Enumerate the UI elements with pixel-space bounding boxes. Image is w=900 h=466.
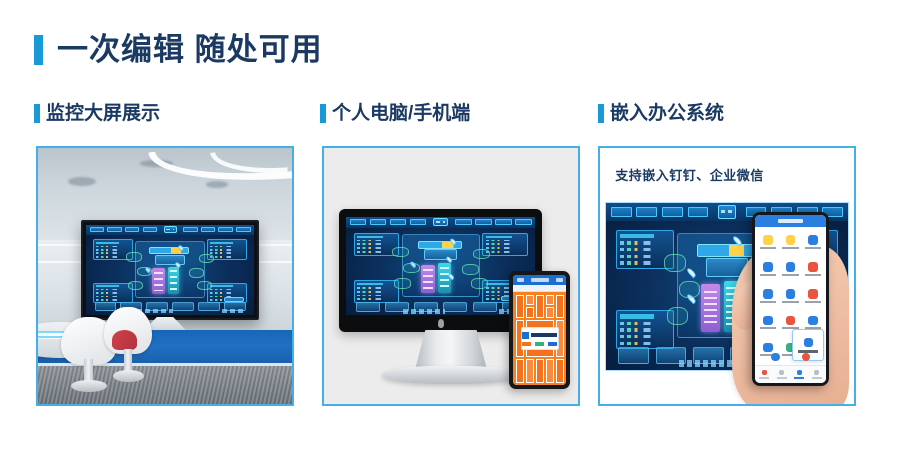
- grid-room: [536, 359, 544, 383]
- chair-base: [71, 380, 107, 392]
- dashboard-tab[interactable]: [515, 219, 531, 225]
- shortcut-icon: [771, 353, 780, 362]
- app-tile[interactable]: [802, 257, 823, 281]
- node-cluster: [199, 254, 214, 264]
- dashboard-tab[interactable]: [410, 219, 426, 225]
- dashboard-tab[interactable]: [495, 219, 511, 225]
- page-title: 一次编辑 随处可用: [34, 34, 323, 65]
- app-title: [778, 219, 803, 223]
- dashboard-footer-text: [222, 309, 245, 313]
- app-icon: [786, 262, 796, 272]
- ceiling-light: [68, 177, 96, 186]
- app-icon: [786, 289, 796, 299]
- app-label: [805, 301, 821, 303]
- app-icon: [763, 343, 773, 353]
- app-tile[interactable]: [780, 230, 801, 254]
- node-cluster: [189, 268, 204, 278]
- app-label: [760, 247, 776, 249]
- grid-room: [516, 359, 524, 383]
- app-icon: [763, 262, 773, 272]
- panel-monitor-wall: [36, 146, 294, 406]
- app-label: [760, 301, 776, 303]
- nav-item-workbench[interactable]: [791, 370, 809, 379]
- dashboard-footer-text: [679, 360, 732, 367]
- dashboard-title-banner: [164, 226, 177, 233]
- app-title: [531, 278, 550, 282]
- section-heading-office-embed: 嵌入办公系统: [598, 104, 724, 123]
- apple-logo-icon: [438, 319, 445, 328]
- back-icon[interactable]: [517, 278, 524, 282]
- brand-logo: [522, 332, 557, 339]
- dashboard-view: [346, 217, 535, 315]
- app-tile[interactable]: [758, 257, 779, 281]
- section-heading-pc-mobile: 个人电脑/手机端: [320, 104, 470, 123]
- panel-pc-mobile: [322, 146, 580, 406]
- dashboard-header: [346, 217, 535, 228]
- grid-room: [546, 359, 554, 383]
- status-legend: [522, 342, 557, 346]
- title-accent-bar: [34, 35, 43, 65]
- app-tile[interactable]: [758, 310, 779, 334]
- mobile-map-app: [513, 275, 566, 385]
- panel-caption: 支持嵌入钉钉、企业微信: [600, 148, 854, 202]
- app-icon: [763, 235, 773, 245]
- workbench-app: [755, 215, 825, 383]
- dashboard-body: [346, 228, 535, 315]
- app-icon: [763, 289, 773, 299]
- section-heading-label: 监控大屏展示: [46, 104, 160, 123]
- popup-icon: [804, 338, 813, 347]
- app-tile[interactable]: [758, 284, 779, 308]
- chair: [104, 307, 152, 384]
- wall-display-screen: [86, 225, 254, 315]
- dashboard-tab[interactable]: [143, 227, 157, 233]
- dashboard-tab[interactable]: [611, 207, 632, 218]
- node-cluster: [126, 252, 141, 262]
- app-label: [782, 301, 798, 303]
- section-accent-bar: [320, 104, 326, 123]
- dashboard-tab[interactable]: [390, 219, 406, 225]
- dashboard-action-button[interactable]: [224, 297, 244, 302]
- showroom-scene: [38, 148, 292, 404]
- section-heading-label: 个人电脑/手机端: [332, 104, 470, 123]
- app-header: [755, 215, 825, 227]
- menu-icon[interactable]: [556, 278, 563, 282]
- monitor-screen: [346, 217, 535, 315]
- panel-office-embed: 支持嵌入钉钉、企业微信: [598, 146, 856, 406]
- monitor-base: [382, 366, 519, 384]
- dashboard-tab[interactable]: [350, 219, 366, 225]
- app-icon: [763, 316, 773, 326]
- section-heading-monitor-wall: 监控大屏展示: [34, 104, 160, 123]
- map-info-card: [521, 327, 559, 349]
- chair-stem: [84, 359, 93, 382]
- floorplan-grid[interactable]: [513, 292, 566, 384]
- dashboard-tab[interactable]: [201, 227, 215, 233]
- dashboard-tab[interactable]: [475, 219, 491, 225]
- section-heading-label: 嵌入办公系统: [610, 104, 724, 123]
- app-label: [760, 274, 776, 276]
- equipment-bar: [697, 244, 754, 257]
- equipment-block: [155, 255, 185, 265]
- dashboard-title-banner: [718, 205, 737, 219]
- node-cluster: [667, 307, 689, 325]
- mobile-phone-device[interactable]: [752, 212, 828, 386]
- dashboard-tab[interactable]: [107, 227, 121, 233]
- slide-root: 一次编辑 随处可用 监控大屏展示 个人电脑/手机端 嵌入办公系统: [0, 0, 900, 466]
- dashboard-tab[interactable]: [236, 227, 250, 233]
- node-cluster: [664, 254, 686, 272]
- equipment-block: [424, 249, 457, 260]
- app-icon: [808, 289, 818, 299]
- dashboard-tab[interactable]: [90, 227, 104, 233]
- app-icon: [808, 316, 818, 326]
- nav-item-profile[interactable]: [808, 370, 826, 379]
- grid-room: [516, 295, 524, 319]
- chair-base: [113, 370, 144, 382]
- node-cluster: [128, 281, 143, 291]
- grid-room: [556, 295, 564, 319]
- app-icon: [786, 235, 796, 245]
- grid-room: [526, 359, 534, 383]
- grid-room: [526, 307, 534, 318]
- app-icon: [808, 235, 818, 245]
- grid-room: [546, 307, 554, 318]
- section-accent-bar: [34, 104, 40, 123]
- dashboard-view: [86, 225, 254, 315]
- grid-room: [546, 295, 554, 306]
- dashboard-tab[interactable]: [125, 227, 139, 233]
- app-tile[interactable]: [780, 257, 801, 281]
- dashboard-header: [86, 225, 254, 235]
- node-cluster: [392, 247, 409, 257]
- nav-item-docs[interactable]: [773, 370, 791, 379]
- node-cluster: [471, 278, 488, 288]
- phone-screen: [755, 215, 825, 383]
- node-cluster: [137, 267, 152, 277]
- equipment-rack-teal: [168, 267, 179, 295]
- node-cluster: [679, 281, 701, 299]
- equipment-rack-pink: [701, 284, 719, 332]
- nav-item-messages[interactable]: [755, 370, 773, 379]
- app-tile[interactable]: [802, 284, 823, 308]
- chair-cushion: [112, 330, 137, 350]
- app-label: [805, 274, 821, 276]
- dashboard-title-banner: [433, 218, 448, 226]
- dashboard-tab[interactable]: [370, 219, 386, 225]
- app-tile[interactable]: [802, 230, 823, 254]
- app-label: [782, 247, 798, 249]
- node-cluster: [462, 264, 479, 274]
- node-cluster: [394, 278, 411, 288]
- app-label: [782, 274, 798, 276]
- bottom-nav[interactable]: [755, 365, 825, 383]
- grid-room: [526, 295, 534, 306]
- node-cluster: [197, 281, 212, 291]
- app-subheader: [513, 285, 566, 293]
- chair-stem: [124, 349, 132, 372]
- floating-shortcuts[interactable]: [771, 352, 810, 362]
- panel-caption-text: 支持嵌入钉钉、企业微信: [615, 165, 764, 184]
- app-tile[interactable]: [758, 230, 779, 254]
- dashboard-tab[interactable]: [662, 207, 683, 218]
- dashboard-body: [86, 235, 254, 315]
- dashboard-tab[interactable]: [636, 207, 657, 218]
- app-label: [760, 327, 776, 329]
- dashboard-tab[interactable]: [455, 219, 471, 225]
- node-cluster: [403, 263, 420, 273]
- app-icon: [786, 316, 796, 326]
- app-header: [513, 275, 566, 285]
- grid-room: [556, 359, 564, 383]
- mobile-phone-device[interactable]: [509, 271, 570, 389]
- dashboard-tab[interactable]: [183, 227, 197, 233]
- wall-display[interactable]: [81, 220, 259, 320]
- equipment-rack-pink: [152, 268, 165, 294]
- phone-screen: [513, 275, 566, 385]
- dashboard-tab[interactable]: [688, 207, 709, 218]
- dashboard-footer-text: [403, 309, 445, 313]
- shortcut-icon: [802, 353, 811, 362]
- page-title-text: 一次编辑 随处可用: [57, 34, 323, 65]
- grid-room: [536, 295, 544, 319]
- app-label: [805, 247, 821, 249]
- dashboard-tab[interactable]: [218, 227, 232, 233]
- section-accent-bar: [598, 104, 604, 123]
- app-tile[interactable]: [780, 284, 801, 308]
- app-icon: [808, 262, 818, 272]
- ceiling-light: [206, 181, 229, 188]
- equipment-rack-pink: [421, 265, 435, 294]
- monitor-neck: [415, 330, 486, 368]
- node-cluster: [473, 249, 490, 259]
